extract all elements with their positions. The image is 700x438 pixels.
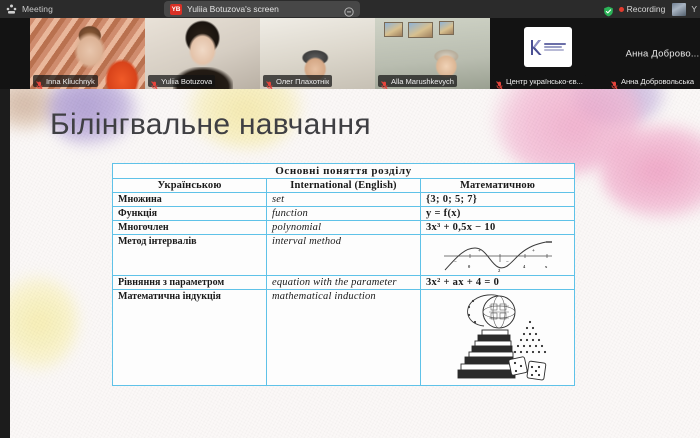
table-banner-row: Основні поняття розділу [113, 164, 575, 179]
svg-text:2: 2 [498, 268, 501, 273]
svg-text:+: + [532, 249, 535, 254]
term-mathematical: 3x³ + 0,5x − 10 [421, 221, 575, 235]
table-banner: Основні поняття розділу [113, 164, 575, 179]
participant-name: Центр українсько-єв... [506, 77, 583, 86]
svg-text:x: x [545, 264, 548, 269]
participant-tile-anna-dobrovolska[interactable]: Анна Доброво... Анна Добровольська [605, 18, 700, 89]
wall-picture-frame [408, 22, 433, 38]
screen-share-label: Yuliia Botuzova's screen [187, 4, 339, 14]
participant-name-badge: Олег Плахотнік [263, 75, 332, 87]
term-english: mathematical induction [267, 290, 421, 386]
table-row: Функція function y = f(x) [113, 207, 575, 221]
recording-label: Recording [627, 4, 666, 14]
mic-muted-icon [151, 77, 158, 86]
term-mathematical: 3x² + ax + 4 = 0 [421, 276, 575, 290]
table-row: Множина set {3; 0; 5; 7} [113, 193, 575, 207]
svg-text:+: + [478, 249, 481, 254]
participant-name: Alla Marushkevych [391, 77, 454, 86]
mic-muted-icon [266, 77, 273, 86]
logo-wordmark [544, 43, 566, 51]
top-bar-right-group: Recording Y [603, 0, 700, 18]
meeting-top-bar: Meeting YB Yuliia Botuzova's screen [0, 0, 700, 18]
participant-name: Inna Kliuchnyk [46, 77, 95, 86]
edge-participant-thumbnail[interactable] [672, 3, 686, 16]
edge-participant-name: Y [691, 4, 697, 14]
column-header-english: International (English) [267, 179, 421, 193]
mic-muted-icon [611, 77, 618, 86]
term-english: polynomial [267, 221, 421, 235]
participant-name-badge: Inna Kliuchnyk [33, 75, 98, 87]
logo-k-icon [530, 39, 542, 56]
term-ukrainian: Рівняння з параметром [113, 276, 267, 290]
term-english: interval method [267, 235, 421, 276]
column-header-mathematical: Математичною [421, 179, 575, 193]
participant-tile-oleh-plakhotnik[interactable]: Олег Плахотнік [260, 18, 375, 89]
slide-title: Білінгвальне навчання [50, 108, 371, 142]
svg-text:−: − [454, 260, 457, 265]
participant-name-badge: Alla Marushkevych [378, 75, 457, 87]
concepts-table-wrapper: Основні поняття розділу Українською Inte… [112, 163, 575, 386]
shield-check-icon[interactable] [603, 4, 614, 15]
participant-name-badge: Центр українсько-єв... [493, 75, 586, 87]
induction-illustration-icon [444, 292, 552, 384]
term-mathematical-illustration [421, 290, 575, 386]
table-header-row: Українською International (English) Мате… [113, 179, 575, 193]
concepts-table: Основні поняття розділу Українською Inte… [112, 163, 575, 386]
sign-curve-graph-icon: − + − + 0 2 4 x [442, 237, 554, 275]
term-ukrainian: Функція [113, 207, 267, 221]
participant-video-feed [0, 18, 30, 89]
meeting-app-icon [6, 4, 17, 15]
term-english: equation with the parameter [267, 276, 421, 290]
participant-tile-edge-left[interactable] [0, 18, 30, 89]
participant-tile-inna-kliuchnyk[interactable]: Inna Kliuchnyk [30, 18, 145, 89]
svg-text:0: 0 [468, 264, 471, 269]
term-ukrainian: Множина [113, 193, 267, 207]
recording-indicator[interactable]: Recording [619, 4, 666, 14]
meeting-menu-label: Meeting [22, 4, 53, 14]
participant-name-badge: Анна Добровольська [608, 75, 697, 87]
organization-logo [524, 27, 572, 67]
wall-picture-frame [439, 21, 454, 35]
sharer-initials-badge: YB [170, 4, 182, 15]
participant-name: Yuliia Botuzova [161, 77, 212, 86]
svg-text:4: 4 [523, 264, 526, 269]
term-mathematical-graph: − + − + 0 2 4 x [421, 235, 575, 276]
participant-name: Олег Плахотнік [276, 77, 329, 86]
term-mathematical: y = f(x) [421, 207, 575, 221]
table-row: Математична індукція mathematical induct… [113, 290, 575, 386]
table-row: Многочлен polynomial 3x³ + 0,5x − 10 [113, 221, 575, 235]
table-row: Метод інтервалів interval method − + − + [113, 235, 575, 276]
participant-video-strip[interactable]: Inna Kliuchnyk Yuliia Botuzova [0, 18, 700, 89]
term-ukrainian: Метод інтервалів [113, 235, 267, 276]
zoom-meeting-window: Meeting YB Yuliia Botuzova's screen [0, 0, 700, 438]
mic-muted-icon [36, 77, 43, 86]
term-english: set [267, 193, 421, 207]
mic-muted-icon [496, 77, 503, 86]
screen-share-indicator[interactable]: YB Yuliia Botuzova's screen [164, 1, 360, 17]
participant-name-badge: Yuliia Botuzova [148, 75, 215, 87]
participant-tile-alla-marushkevych[interactable]: Alla Marushkevych [375, 18, 490, 89]
term-english: function [267, 207, 421, 221]
wall-picture-frame [384, 22, 403, 37]
recording-dot-icon [619, 7, 624, 12]
meeting-menu[interactable]: Meeting [0, 4, 156, 15]
participant-display-name: Анна Доброво... [605, 48, 700, 59]
participant-tile-centre-logo[interactable]: Центр українсько-єв... [490, 18, 605, 89]
participant-tile-yuliia-botuzova[interactable]: Yuliia Botuzova [145, 18, 260, 89]
column-header-ukrainian: Українською [113, 179, 267, 193]
svg-text:−: − [506, 260, 509, 265]
table-row: Рівняння з параметром equation with the … [113, 276, 575, 290]
participant-name: Анна Добровольська [621, 77, 694, 86]
mic-muted-icon [381, 77, 388, 86]
term-ukrainian: Математична індукція [113, 290, 267, 386]
term-ukrainian: Многочлен [113, 221, 267, 235]
term-mathematical: {3; 0; 5; 7} [421, 193, 575, 207]
pause-circle-icon[interactable] [344, 4, 354, 14]
